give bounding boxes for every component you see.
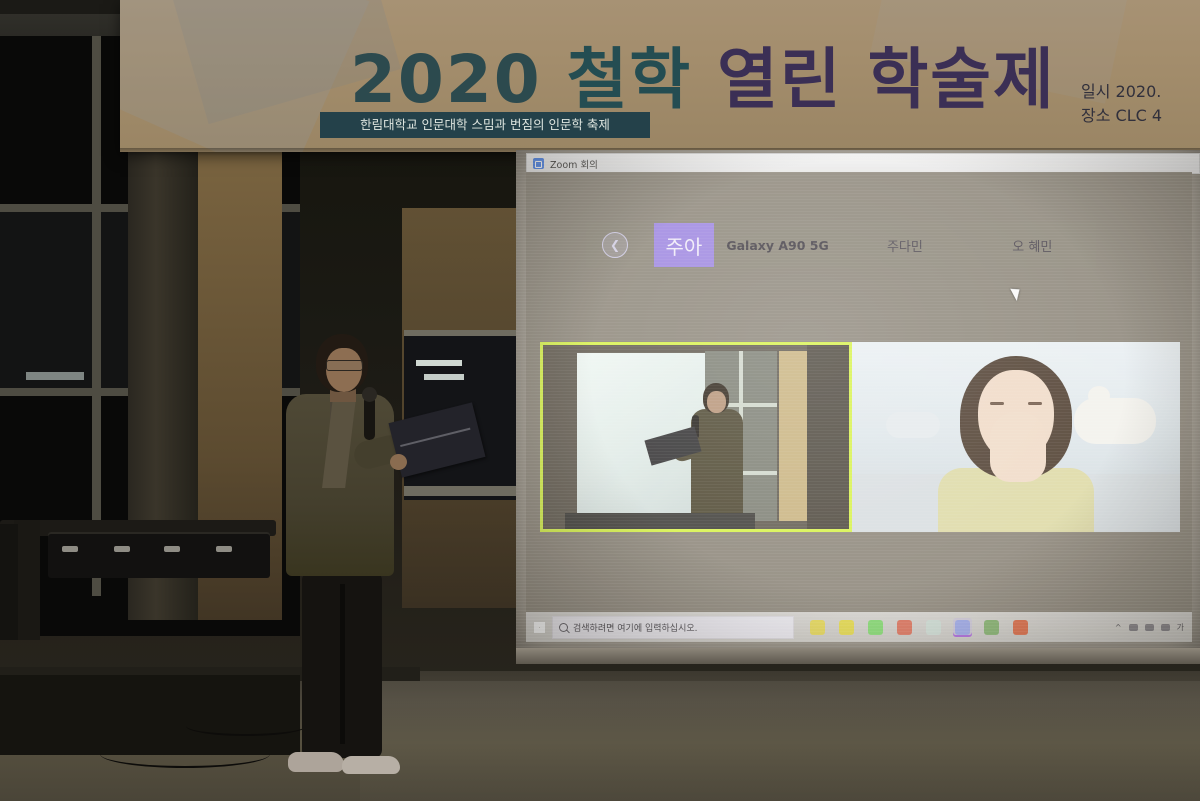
thumbnail-judamin[interactable]: 주다민 — [841, 223, 968, 267]
zoom-titlebar[interactable]: Zoom 회의 — [526, 153, 1200, 174]
video-tile-grid — [540, 342, 1180, 532]
podium-button-2 — [114, 546, 130, 552]
chevron-left-icon[interactable]: ❮ — [602, 232, 628, 258]
banner-title: 2020 철학 열린 학술제 — [350, 26, 1056, 122]
network-icon[interactable] — [1145, 624, 1154, 631]
chrome-icon-glyph — [984, 620, 999, 635]
banner-title-part-a: 철학 — [567, 41, 692, 118]
tile2-object — [886, 412, 940, 438]
banner-year: 2020 — [350, 41, 542, 118]
tile-presenter-face — [707, 391, 726, 413]
tile2-eye-left — [990, 402, 1004, 405]
tile-desk — [565, 513, 755, 529]
opera-icon-glyph — [868, 620, 883, 635]
thumbnail-galaxy-a90[interactable]: Galaxy A90 5G — [714, 223, 841, 267]
podium-button-4 — [216, 546, 232, 552]
file-explorer-icon-glyph — [810, 620, 825, 635]
banner-title-part-c: 학술제 — [868, 41, 1056, 118]
internet-explorer-icon-glyph — [926, 620, 941, 635]
search-icon — [559, 623, 568, 632]
ime-korean-icon[interactable]: 가 — [1177, 622, 1184, 633]
podium — [0, 520, 280, 640]
kakaotalk-icon-glyph — [839, 620, 854, 635]
windows-taskbar: 검색하려면 여기에 입력하십시오. ^가 — [526, 612, 1192, 642]
presenter-shoe-left — [288, 752, 344, 772]
banner-info: 일시 2020. 장소 CLC 4 — [1081, 80, 1196, 128]
firefox-icon[interactable] — [895, 618, 914, 637]
kakaotalk-icon[interactable] — [837, 618, 856, 637]
active-speaker-tile[interactable] — [540, 342, 852, 532]
screenshot-root: 2020 철학 열린 학술제 한림대학교 인문대학 스밈과 번짐의 인문학 축제… — [0, 0, 1200, 801]
zoom-icon-glyph — [955, 620, 970, 635]
banner-subtitle-bar: 한림대학교 인문대학 스밈과 번짐의 인문학 축제 — [320, 112, 650, 138]
banner-info-date: 일시 2020. — [1081, 80, 1196, 104]
taskbar-pinned-apps — [808, 618, 1030, 637]
distant-light-2 — [424, 374, 464, 380]
firefox-icon-glyph — [897, 620, 912, 635]
presenter — [286, 334, 404, 784]
projection-screen-frame — [516, 648, 1200, 664]
podium-button-3 — [164, 546, 180, 552]
powerpoint-icon-glyph — [1013, 620, 1028, 635]
zoom-app-icon — [533, 158, 544, 169]
presenter-leg-split — [340, 584, 345, 744]
onedrive-icon[interactable] — [1129, 624, 1138, 631]
participant-tile[interactable] — [852, 342, 1180, 532]
podium-control-tray — [48, 532, 270, 578]
presenter-shoe-right — [342, 756, 400, 774]
distant-light-3 — [26, 372, 84, 380]
floor-cable-1 — [100, 740, 270, 768]
distant-light — [416, 360, 462, 366]
presenter-microphone — [364, 396, 375, 440]
podium-button-1 — [62, 546, 78, 552]
event-banner: 2020 철학 열린 학술제 한림대학교 인문대학 스밈과 번짐의 인문학 축제… — [120, 0, 1200, 152]
zoom-icon[interactable] — [953, 618, 972, 637]
windows-search-placeholder: 검색하려면 여기에 입력하십시오. — [573, 621, 698, 634]
banner-info-place: 장소 CLC 4 — [1081, 104, 1196, 128]
banner-subtitle: 한림대학교 인문대학 스밈과 번짐의 인문학 축제 — [320, 112, 650, 138]
opera-icon[interactable] — [866, 618, 885, 637]
zoom-window: Zoom 회의 ❮ 주아 Galaxy A90 5G 주다민 오 혜민 — [516, 150, 1200, 650]
projection-screen: Zoom 회의 ❮ 주아 Galaxy A90 5G 주다민 오 혜민 — [516, 150, 1200, 650]
banner-title-part-b: 열린 — [717, 41, 842, 118]
tile2-eye-right — [1028, 402, 1042, 405]
tile-dark-pillar — [807, 345, 849, 529]
floor-reflection — [360, 681, 1200, 801]
presenter-hand — [390, 454, 407, 470]
zoom-window-title: Zoom 회의 — [550, 157, 598, 171]
chrome-icon[interactable] — [982, 618, 1001, 637]
tile2-participant-hands — [990, 412, 1046, 482]
windows-search-box[interactable]: 검색하려면 여기에 입력하십시오. — [552, 616, 794, 639]
thumbnail-avatar-juah[interactable]: 주아 — [654, 223, 714, 267]
tile-yellow-panel — [779, 351, 807, 521]
tile2-plush-toy — [1074, 398, 1156, 444]
file-explorer-icon[interactable] — [808, 618, 827, 637]
windows-start-icon[interactable] — [526, 622, 552, 633]
zoom-meeting-body: ❮ 주아 Galaxy A90 5G 주다민 오 혜민 — [526, 172, 1192, 612]
powerpoint-icon[interactable] — [1011, 618, 1030, 637]
system-tray: ^가 — [1115, 622, 1192, 633]
participant-thumbnail-strip: ❮ 주아 Galaxy A90 5G 주다민 오 혜민 — [586, 222, 1096, 268]
podium-cabinet — [0, 524, 18, 640]
speaker-icon[interactable] — [1161, 624, 1170, 631]
thumbnail-ohyemin[interactable]: 오 혜민 — [969, 223, 1096, 267]
chevron-up-icon[interactable]: ^ — [1115, 623, 1122, 632]
presenter-glasses — [326, 360, 363, 371]
internet-explorer-icon[interactable] — [924, 618, 943, 637]
